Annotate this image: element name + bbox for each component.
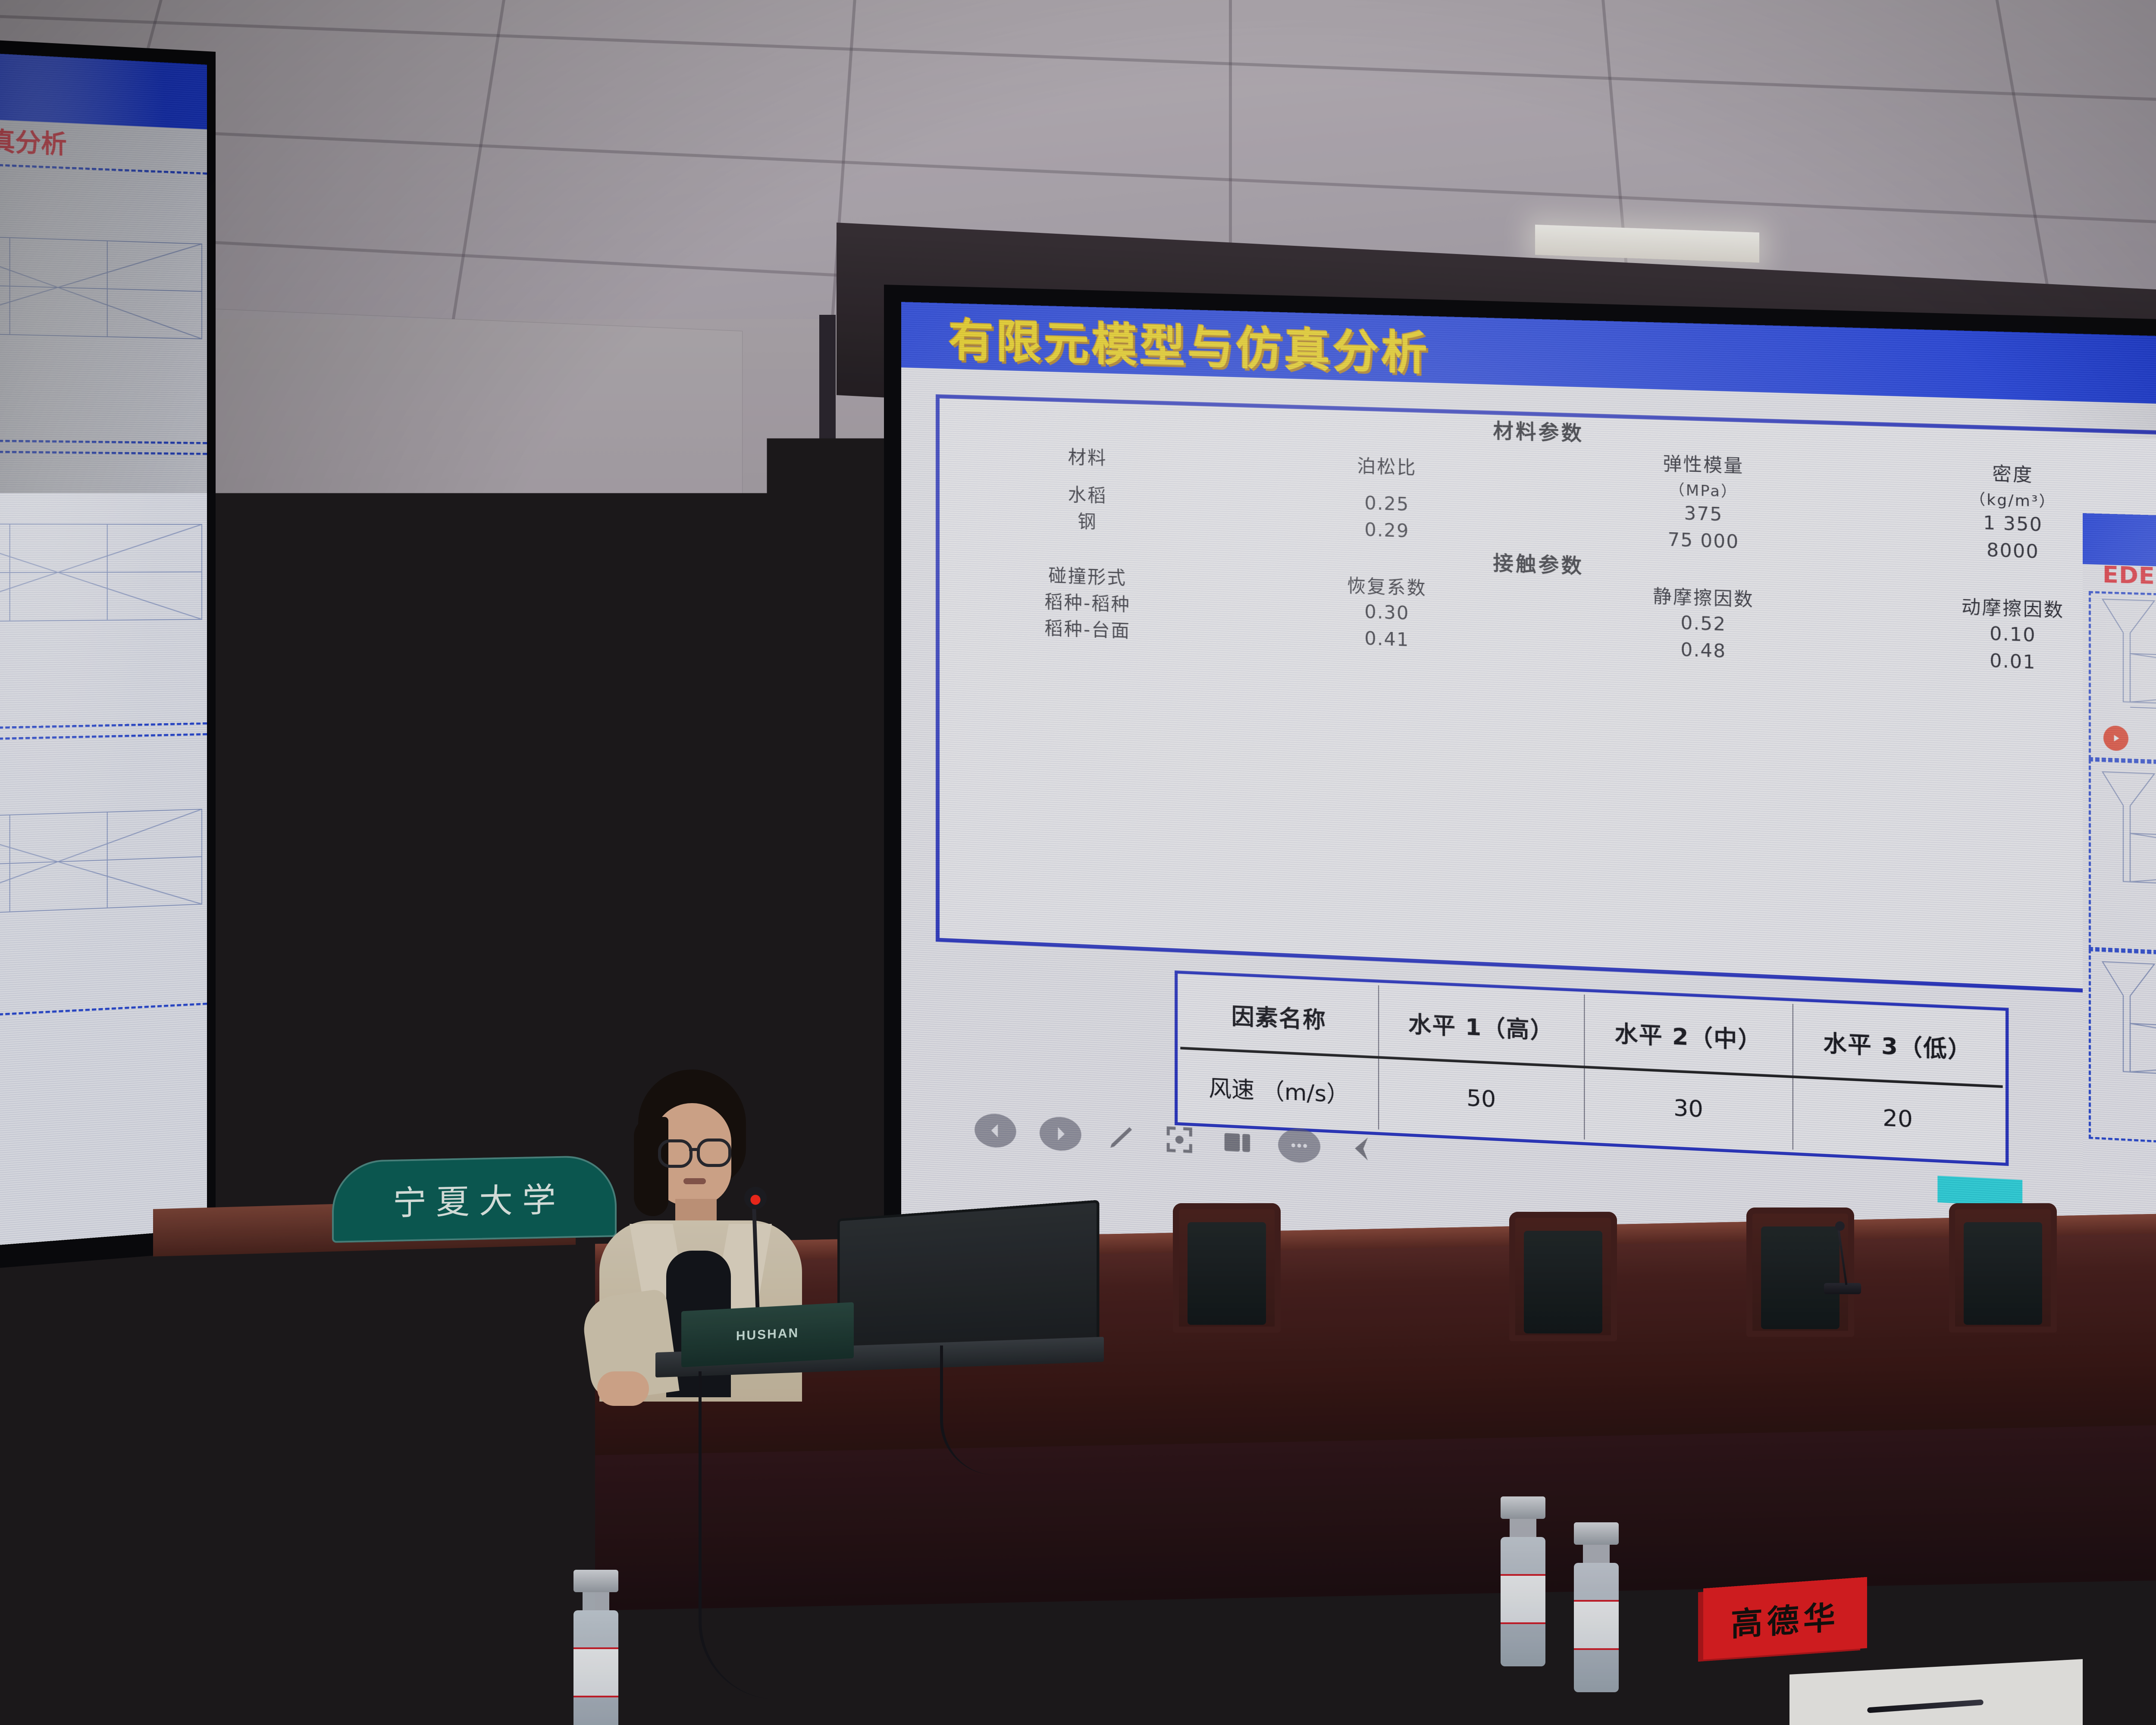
laptop-screen — [837, 1200, 1099, 1360]
bottle-cap — [1501, 1496, 1545, 1519]
bottle-label — [1574, 1600, 1619, 1650]
funnel-mesh-diagram-2 — [2096, 768, 2156, 962]
conference-room-photo: 耦合仿真分析 — [0, 0, 2156, 1725]
bottle-label — [573, 1647, 618, 1697]
material-col-material: 材料 — [940, 427, 1237, 486]
factor-col-level2: 水平 2（中） — [1585, 994, 1793, 1077]
bottle-neck — [1510, 1519, 1536, 1537]
left-mesh-diagram-1 — [0, 218, 207, 358]
pointer-icon[interactable] — [1344, 1131, 1379, 1167]
page-title: 有限元模型与仿真分析 — [949, 303, 1430, 382]
slide-progress-indicator — [1937, 1176, 2022, 1207]
bottle-neck — [583, 1592, 609, 1610]
material-col-poisson: 泊松比 — [1237, 436, 1539, 495]
parameters-table-box: 材料参数 材料 泊松比 弹性模量 （MPa） 密度 （kg/m³） — [936, 394, 2156, 996]
left-mesh-diagram-3 — [0, 793, 207, 936]
left-mesh-diagram-2 — [0, 508, 207, 642]
factor-level1: 50 — [1379, 1057, 1585, 1139]
more-options-icon[interactable] — [1278, 1128, 1320, 1164]
parameters-table: 材料参数 材料 泊松比 弹性模量 （MPa） 密度 （kg/m³） — [940, 398, 2156, 680]
factor-level3: 20 — [1793, 1077, 2003, 1160]
right-display-panel[interactable]: EDEM和fluent耦合仿真分析 — [2083, 513, 2156, 1201]
left-slide-title: 耦合仿真分析 — [0, 117, 67, 161]
cable — [699, 1371, 848, 1699]
left-slide-titlebar — [0, 53, 207, 129]
next-slide-button[interactable] — [1040, 1116, 1081, 1152]
paper-cup-rim — [1430, 1670, 1479, 1679]
bottle-body — [573, 1610, 618, 1725]
bottle-cap — [1574, 1522, 1619, 1545]
camera-wall-mount — [595, 595, 633, 643]
zoom-icon[interactable] — [1163, 1122, 1197, 1157]
funnel-mesh-diagram-3 — [2096, 958, 2156, 1155]
presenter-hand — [597, 1371, 649, 1406]
podium — [235, 1219, 567, 1725]
ptz-camera — [573, 530, 677, 617]
eyeglasses-left-lens — [658, 1139, 693, 1168]
presenter-hair-side — [634, 1117, 668, 1216]
logo-english-name: NINGXIA UNIVERSITY — [394, 1392, 460, 1399]
audio-device: HUSHAN — [681, 1302, 854, 1367]
chair — [1509, 1212, 1617, 1341]
name-card: 孙治 — [1250, 1646, 1414, 1725]
paper-cup — [1432, 1673, 1477, 1725]
water-bottle — [1574, 1522, 1619, 1692]
camera-lens-icon — [630, 540, 658, 568]
audience-person — [2147, 1371, 2156, 1725]
microphone-base — [1824, 1283, 1861, 1294]
presenter-mouth — [683, 1178, 706, 1184]
chair — [1173, 1203, 1281, 1333]
bottle-cap — [573, 1570, 618, 1592]
factor-col-level1: 水平 1（高） — [1379, 985, 1585, 1067]
university-logo: 宁夏大学 1958 NINGXIA UNIVERSITY — [390, 1317, 464, 1404]
chair — [1949, 1203, 2057, 1333]
logo-year: 1958 — [419, 1377, 435, 1386]
podium-microphone-head — [744, 1187, 767, 1209]
microphone-head — [1835, 1221, 1845, 1231]
pen-icon[interactable] — [1105, 1119, 1139, 1154]
left-display-screen[interactable]: 耦合仿真分析 — [0, 53, 207, 1246]
camera-status-led — [620, 583, 627, 592]
funnel-mesh-diagram-1 — [2096, 596, 2156, 777]
logo-swoosh-icon — [401, 1342, 452, 1373]
slide-thumbnails-icon[interactable] — [1220, 1125, 1254, 1160]
bottle-body — [1501, 1537, 1545, 1666]
bottle-label — [1501, 1574, 1545, 1624]
eyeglasses-right-lens — [697, 1138, 731, 1167]
powerpoint-slide: 材料参数 材料 泊松比 弹性模量 （MPa） 密度 （kg/m³） — [901, 302, 2156, 1353]
main-presentation-screen[interactable]: 材料参数 材料 泊松比 弹性模量 （MPa） 密度 （kg/m³） — [901, 302, 2156, 1353]
name-card-text: 孙治 — [1296, 1662, 1369, 1713]
water-bottle — [1501, 1496, 1545, 1666]
logo-arc-text: 宁夏大学 — [401, 1324, 453, 1337]
name-card: 高德华 — [1703, 1577, 1867, 1660]
bottle-neck — [1583, 1545, 1610, 1563]
factor-level2: 30 — [1585, 1067, 1793, 1150]
eyeglasses-bridge — [689, 1148, 699, 1151]
device-label: HUSHAN — [736, 1326, 799, 1344]
water-bottle — [573, 1570, 618, 1725]
bottle-body — [1574, 1563, 1619, 1692]
factor-col-level3: 水平 3（低） — [1793, 1004, 2003, 1087]
factor-name: 风速 （m/s） — [1180, 1048, 1379, 1129]
factor-col-name: 因素名称 — [1180, 976, 1379, 1057]
previous-slide-button[interactable] — [975, 1113, 1016, 1148]
name-card-text: 高德华 — [1731, 1591, 1839, 1645]
material-col-density: 密度 （kg/m³） — [1870, 455, 2156, 514]
institution-name: 宁夏大学 — [383, 1173, 565, 1225]
